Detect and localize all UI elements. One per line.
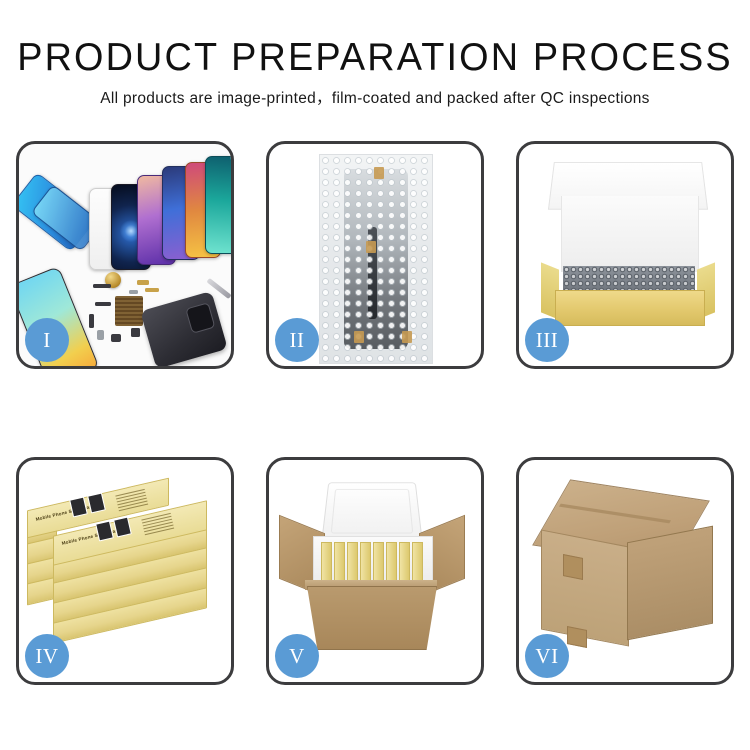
product-preparation-process-page: PRODUCT PREPARATION PROCESS All products… xyxy=(0,0,750,750)
silver-clip-icon xyxy=(129,290,138,294)
yellow-box-item xyxy=(360,542,371,584)
step-badge-5: V xyxy=(275,634,319,678)
yellow-boxes-row xyxy=(321,542,423,584)
process-step-panel-5: V xyxy=(266,457,484,685)
process-step-panel-3: III xyxy=(516,141,734,369)
yellow-box-item xyxy=(412,542,423,584)
step-badge-4: IV xyxy=(25,634,69,678)
teal-gradient-phone-icon xyxy=(205,156,231,254)
step-badge-3: III xyxy=(525,318,569,362)
tape-tab-icon xyxy=(402,331,412,343)
sealed-carton-side xyxy=(627,526,713,641)
flex-cable-icon xyxy=(95,302,111,306)
step-badge-6: VI xyxy=(525,634,569,678)
gold-connector-icon xyxy=(137,280,149,285)
bubble-texture xyxy=(320,155,432,363)
yellow-box-item xyxy=(334,542,345,584)
carton-tape-patch xyxy=(567,626,587,648)
yellow-box-item xyxy=(373,542,384,584)
logic-board-icon xyxy=(115,296,143,326)
carton-front-panel xyxy=(307,586,437,650)
small-bracket-icon xyxy=(89,314,94,328)
gold-flex-icon xyxy=(145,288,159,292)
speaker-icon xyxy=(111,334,121,342)
process-steps-grid: I II xyxy=(16,141,734,686)
process-step-panel-6: VI xyxy=(516,457,734,685)
tape-tab-icon xyxy=(374,167,384,179)
page-subtitle: All products are image-printed，film-coat… xyxy=(0,91,750,107)
process-step-panel-4: Mobile Phone Spare Parts Mobile Phone Sp… xyxy=(16,457,234,685)
foam-lid-icon xyxy=(321,482,423,542)
inner-box-interior xyxy=(561,196,699,272)
bubble-wrap-bag-icon xyxy=(319,154,433,364)
page-title: PRODUCT PREPARATION PROCESS xyxy=(11,38,739,77)
phone-backplate-icon xyxy=(140,291,228,366)
step-badge-1: I xyxy=(25,318,69,362)
tape-tab-icon xyxy=(354,331,364,343)
inner-box-front-panel xyxy=(555,290,705,326)
yellow-box-item xyxy=(321,542,332,584)
page-header: PRODUCT PREPARATION PROCESS All products… xyxy=(0,0,750,107)
yellow-box-item xyxy=(399,542,410,584)
process-step-panel-1: I xyxy=(16,141,234,369)
chip-icon xyxy=(93,284,111,288)
process-step-panel-2: II xyxy=(266,141,484,369)
camera-module-icon xyxy=(131,328,140,337)
sim-tray-icon xyxy=(97,330,104,340)
tape-tab-icon xyxy=(366,241,376,253)
step-badge-2: II xyxy=(275,318,319,362)
carton-tape-patch xyxy=(563,554,583,580)
yellow-box-item xyxy=(386,542,397,584)
yellow-box-item xyxy=(347,542,358,584)
